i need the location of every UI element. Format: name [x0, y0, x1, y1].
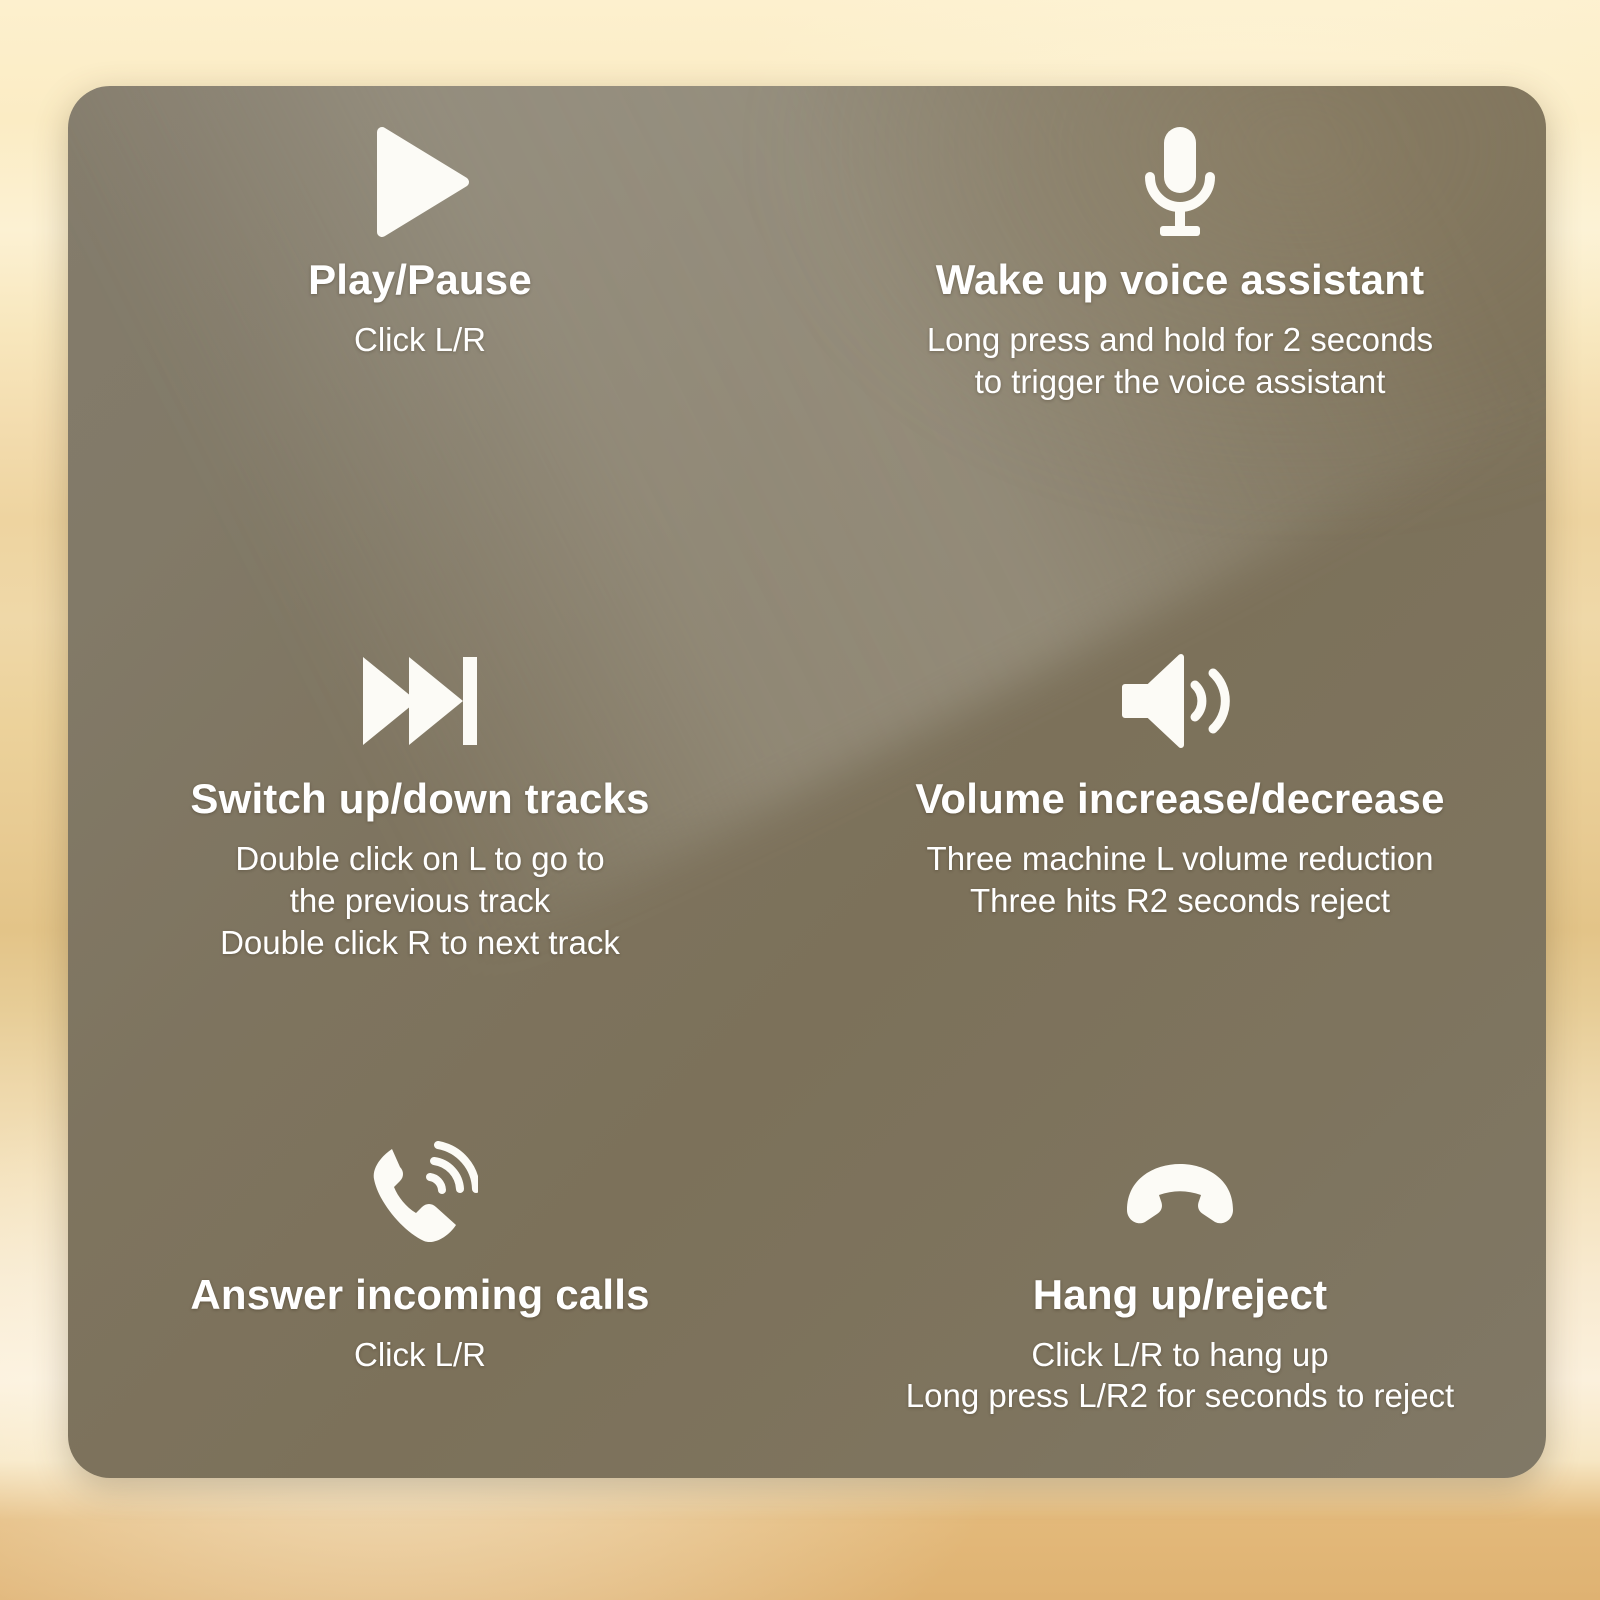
- feature-description-line: Click L/R to hang up: [906, 1334, 1454, 1376]
- feature-description: Click L/R: [354, 1334, 486, 1376]
- feature-title: Hang up/reject: [1033, 1271, 1328, 1318]
- feature-hang-up: Hang up/reject Click L/R to hang up Long…: [800, 1059, 1560, 1566]
- feature-description-line: Double click R to next track: [220, 922, 620, 964]
- feature-title: Switch up/down tracks: [190, 775, 649, 822]
- feature-answer-call: Answer incoming calls Click L/R: [40, 1059, 800, 1566]
- phone-hangup-icon: [1119, 1137, 1241, 1257]
- feature-description-line: Double click on L to go to: [220, 838, 620, 880]
- feature-description-line: Long press L/R2 for seconds to reject: [906, 1375, 1454, 1417]
- feature-voice-assistant: Wake up voice assistant Long press and h…: [800, 44, 1560, 551]
- feature-title: Play/Pause: [308, 256, 532, 303]
- feature-title: Answer incoming calls: [190, 1271, 649, 1318]
- feature-title: Wake up voice assistant: [936, 256, 1425, 303]
- feature-description-line: Three machine L volume reduction: [927, 838, 1434, 880]
- feature-description-line: Long press and hold for 2 seconds: [927, 319, 1433, 361]
- feature-switch-tracks: Switch up/down tracks Double click on L …: [40, 551, 800, 1058]
- play-icon: [368, 122, 472, 242]
- feature-description-line: Click L/R: [354, 319, 486, 361]
- microphone-icon: [1128, 122, 1232, 242]
- skip-forward-icon: [359, 641, 481, 761]
- feature-volume: Volume increase/decrease Three machine L…: [800, 551, 1560, 1058]
- feature-description: Long press and hold for 2 seconds to tri…: [927, 319, 1433, 402]
- feature-description: Double click on L to go to the previous …: [220, 838, 620, 963]
- feature-description: Three machine L volume reduction Three h…: [927, 838, 1434, 921]
- volume-icon: [1119, 641, 1241, 761]
- feature-description: Click L/R to hang up Long press L/R2 for…: [906, 1334, 1454, 1417]
- feature-description-line: to trigger the voice assistant: [927, 361, 1433, 403]
- feature-description: Click L/R: [354, 319, 486, 361]
- feature-description-line: Three hits R2 seconds reject: [927, 880, 1434, 922]
- feature-description-line: Click L/R: [354, 1334, 486, 1376]
- feature-description-line: the previous track: [220, 880, 620, 922]
- feature-play-pause: Play/Pause Click L/R: [40, 44, 800, 551]
- feature-grid: Play/Pause Click L/R Wake up voice assis…: [0, 0, 1600, 1600]
- feature-title: Volume increase/decrease: [915, 775, 1444, 822]
- page-background: Play/Pause Click L/R Wake up voice assis…: [0, 0, 1600, 1600]
- phone-ringing-icon: [362, 1137, 478, 1257]
